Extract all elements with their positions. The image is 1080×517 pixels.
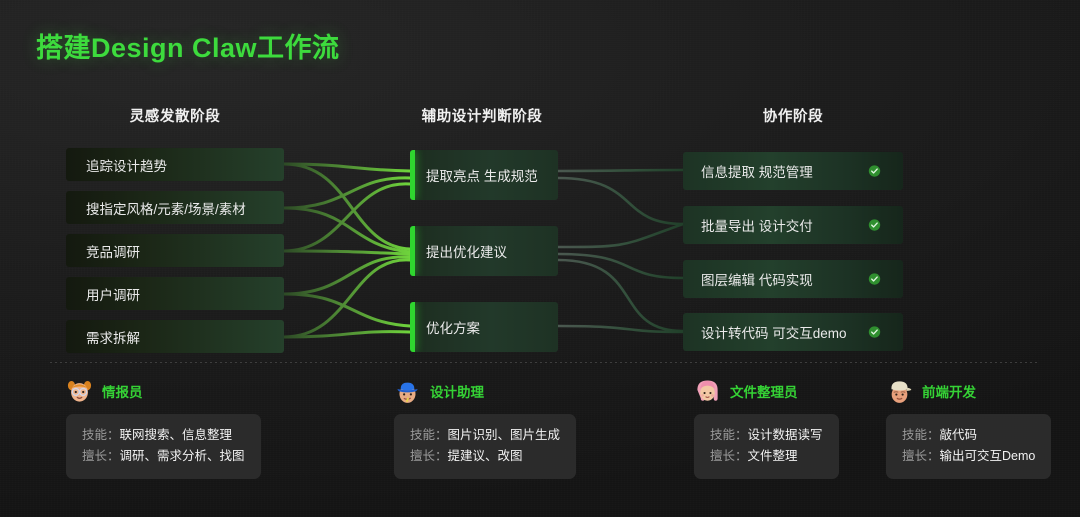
memoji-beige-cap-icon [886, 378, 913, 405]
flow-node-collab-1[interactable]: 信息提取 规范管理 [683, 152, 903, 190]
agent-strength-value: 输出可交互Demo [940, 449, 1036, 463]
flow-node-inspiration-1[interactable]: 追踪设计趋势 [66, 148, 284, 181]
check-circle-icon [868, 326, 881, 339]
agent-skill-value: 设计数据读写 [748, 428, 823, 442]
column-header-collaboration: 协作阶段 [763, 105, 823, 126]
page-title: 搭建Design Claw工作流 [36, 26, 340, 65]
agent-skill-label: 技能： [82, 428, 120, 442]
flow-node-label: 图层编辑 代码实现 [701, 269, 813, 289]
flow-node-label: 设计转代码 可交互demo [701, 322, 847, 342]
agent-name: 情报员 [102, 381, 143, 401]
flow-node-assist-2[interactable]: 提出优化建议 [410, 226, 558, 276]
agent-skill-label: 技能： [902, 428, 940, 442]
agent-skill-row: 技能：设计数据读写 [710, 425, 823, 446]
agent-strength-row: 擅长：提建议、改图 [410, 446, 560, 467]
flow-node-label: 批量导出 设计交付 [701, 215, 813, 235]
memoji-pigtails-glasses-icon [66, 378, 93, 405]
check-circle-icon [868, 165, 881, 178]
section-divider [50, 362, 1040, 363]
memoji-blue-bucket-hat-icon [394, 378, 421, 405]
flow-node-label: 用户调研 [86, 284, 140, 304]
agent-skill-box: 技能：敲代码 擅长：输出可交互Demo [886, 414, 1051, 479]
agent-skill-label: 技能： [710, 428, 748, 442]
agent-strength-value: 文件整理 [748, 449, 798, 463]
check-circle-icon [868, 273, 881, 286]
flow-node-label: 竞品调研 [86, 241, 140, 261]
flow-node-inspiration-3[interactable]: 竞品调研 [66, 234, 284, 267]
flow-node-label: 搜指定风格/元素/场景/素材 [86, 198, 246, 218]
column-header-inspiration: 灵感发散阶段 [130, 105, 221, 126]
agent-strength-row: 擅长：输出可交互Demo [902, 446, 1035, 467]
agent-card-4: 前端开发 技能：敲代码 擅长：输出可交互Demo [886, 378, 1051, 479]
agent-skill-value: 联网搜索、信息整理 [120, 428, 233, 442]
agent-name: 设计助理 [430, 381, 484, 401]
agent-card-1: 情报员 技能：联网搜索、信息整理 擅长：调研、需求分析、找图 [66, 378, 261, 479]
agent-skill-label: 技能： [410, 428, 448, 442]
agent-card-2: 设计助理 技能：图片识别、图片生成 擅长：提建议、改图 [394, 378, 576, 479]
agent-skill-box: 技能：联网搜索、信息整理 擅长：调研、需求分析、找图 [66, 414, 261, 479]
memoji-pink-hair-icon [694, 378, 721, 405]
flow-node-collab-4[interactable]: 设计转代码 可交互demo [683, 313, 903, 351]
agent-strength-row: 擅长：调研、需求分析、找图 [82, 446, 245, 467]
agent-skill-box: 技能：设计数据读写 擅长：文件整理 [694, 414, 839, 479]
flow-node-assist-1[interactable]: 提取亮点 生成规范 [410, 150, 558, 200]
agent-strength-value: 调研、需求分析、找图 [120, 449, 245, 463]
column-header-assist-judge: 辅助设计判断阶段 [422, 105, 543, 126]
flow-node-label: 提出优化建议 [426, 241, 507, 261]
agent-skill-value: 敲代码 [940, 428, 978, 442]
flow-node-label: 信息提取 规范管理 [701, 161, 813, 181]
agent-skill-row: 技能：敲代码 [902, 425, 1035, 446]
flow-node-assist-3[interactable]: 优化方案 [410, 302, 558, 352]
flow-node-collab-3[interactable]: 图层编辑 代码实现 [683, 260, 903, 298]
agent-skill-box: 技能：图片识别、图片生成 擅长：提建议、改图 [394, 414, 576, 479]
check-circle-icon [868, 219, 881, 232]
agent-skill-value: 图片识别、图片生成 [448, 428, 561, 442]
flow-node-label: 提取亮点 生成规范 [426, 165, 538, 185]
agent-skill-row: 技能：联网搜索、信息整理 [82, 425, 245, 446]
agent-name: 前端开发 [922, 381, 976, 401]
flow-node-label: 需求拆解 [86, 327, 140, 347]
agent-skill-row: 技能：图片识别、图片生成 [410, 425, 560, 446]
flow-node-inspiration-4[interactable]: 用户调研 [66, 277, 284, 310]
agent-card-3: 文件整理员 技能：设计数据读写 擅长：文件整理 [694, 378, 839, 479]
agent-strength-label: 擅长： [710, 449, 748, 463]
agent-strength-label: 擅长： [82, 449, 120, 463]
agent-strength-value: 提建议、改图 [448, 449, 523, 463]
flow-node-inspiration-2[interactable]: 搜指定风格/元素/场景/素材 [66, 191, 284, 224]
flow-node-label: 优化方案 [426, 317, 480, 337]
agent-name: 文件整理员 [730, 381, 798, 401]
flow-node-label: 追踪设计趋势 [86, 155, 167, 175]
agent-strength-label: 擅长： [410, 449, 448, 463]
flow-node-collab-2[interactable]: 批量导出 设计交付 [683, 206, 903, 244]
agent-strength-row: 擅长：文件整理 [710, 446, 823, 467]
agent-strength-label: 擅长： [902, 449, 940, 463]
flow-node-inspiration-5[interactable]: 需求拆解 [66, 320, 284, 353]
